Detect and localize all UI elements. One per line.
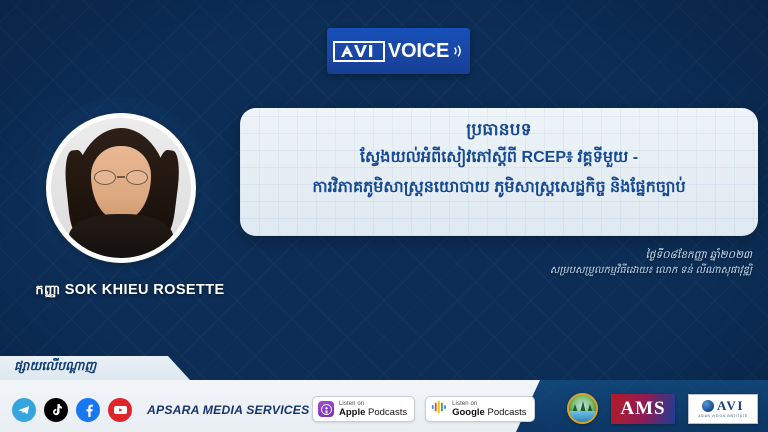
portrait-body <box>69 214 173 258</box>
voice-wordmark: VOICE <box>388 41 449 61</box>
title-line-subject: ស្វែងយល់អំពីសៀវភៅស្តីពី RCEP៖ វគ្គទីមួយ … <box>254 143 744 173</box>
avi-letters-icon <box>339 43 379 59</box>
google-podcasts-badge[interactable]: Listen on Google Podcasts <box>425 396 534 422</box>
ams-logo-text: AMS <box>620 398 665 420</box>
google-podcasts-icon <box>431 400 447 419</box>
social-links[interactable]: APSARA MEDIA SERVICES <box>12 398 309 422</box>
apple-badge-suffix: Podcasts <box>365 407 407 418</box>
speaker-photo <box>51 118 191 258</box>
water-band <box>569 411 596 422</box>
partner-logos: AMS AVI ASIAN VISION INSTITUTE <box>567 393 758 424</box>
ams-logo: AMS <box>611 394 675 424</box>
telegram-icon[interactable] <box>12 398 36 422</box>
title-subject-pre: ស្វែងយល់អំពីសៀវភៅស្តីពី <box>360 149 522 166</box>
avi-logo-subtitle: ASIAN VISION INSTITUTE <box>698 414 748 418</box>
speaker-name: កញ្ញា SOK KHIEU ROSETTE <box>0 282 260 301</box>
google-badge-small-text: Listen on <box>452 401 526 407</box>
title-rcep-label: RCEP <box>522 149 566 166</box>
apple-badge-brand: Apple <box>339 407 365 418</box>
avi-logo-text: AVI <box>717 399 744 412</box>
avi-logo: AVI ASIAN VISION INSTITUTE <box>688 394 758 424</box>
apple-podcasts-icon <box>318 401 334 417</box>
angkor-emblem-logo <box>567 393 598 424</box>
avatar <box>46 113 196 263</box>
title-line-detail: ការវិភាគភូមិសាស្ត្រនយោបាយ ភូមិសាស្ត្រសេដ… <box>254 173 744 203</box>
youtube-icon[interactable] <box>108 398 132 422</box>
globe-icon <box>702 400 714 412</box>
facebook-icon[interactable] <box>76 398 100 422</box>
episode-host: សម្របសម្រួលកម្មវិធីដោយ៖ លោក ទន់ លីណាសុផា… <box>452 263 752 278</box>
episode-date: ថ្ងៃទី០៨ខែកញ្ញា ឆ្នាំ២០២៣ <box>452 248 752 263</box>
channel-tab: ផ្សាយលើបណ្តាញ <box>0 356 190 380</box>
speaker-name-text: SOK KHIEU ROSETTE <box>65 282 225 298</box>
portrait-glasses-icon <box>93 170 149 185</box>
avatar-ring <box>46 113 196 263</box>
avi-voice-logo: VOICE <box>327 28 470 74</box>
channel-tab-label: ផ្សាយលើបណ្តាញ <box>0 359 96 377</box>
apple-podcasts-badge[interactable]: Listen on Apple Podcasts <box>312 396 415 422</box>
apsara-media-services-label: APSARA MEDIA SERVICES <box>147 403 309 417</box>
tiktok-icon[interactable] <box>44 398 68 422</box>
google-badge-brand: Google <box>452 407 485 418</box>
apple-badge-small-text: Listen on <box>339 401 407 407</box>
google-badge-suffix: Podcasts <box>485 407 527 418</box>
episode-meta: ថ្ងៃទី០៨ខែកញ្ញា ឆ្នាំ២០២៣ សម្របសម្រួលកម្… <box>452 248 752 278</box>
presentation-slide: VOICE <box>0 0 768 432</box>
apple-badge-title: Apple Podcasts <box>339 408 407 418</box>
speaker-honorific: កញ្ញា <box>35 282 64 297</box>
avi-wordmark-box <box>333 41 385 62</box>
google-badge-title: Google Podcasts <box>452 408 526 418</box>
sound-wave-icon <box>453 44 464 58</box>
title-line-topic: ប្រធានបទ <box>254 117 744 143</box>
title-card: ប្រធានបទ ស្វែងយល់អំពីសៀវភៅស្តីពី RCEP៖ វ… <box>240 108 758 236</box>
title-subject-post: ៖ វគ្គទីមួយ - <box>566 149 638 166</box>
podcast-badges[interactable]: Listen on Apple Podcasts Listen on Googl… <box>312 396 535 422</box>
